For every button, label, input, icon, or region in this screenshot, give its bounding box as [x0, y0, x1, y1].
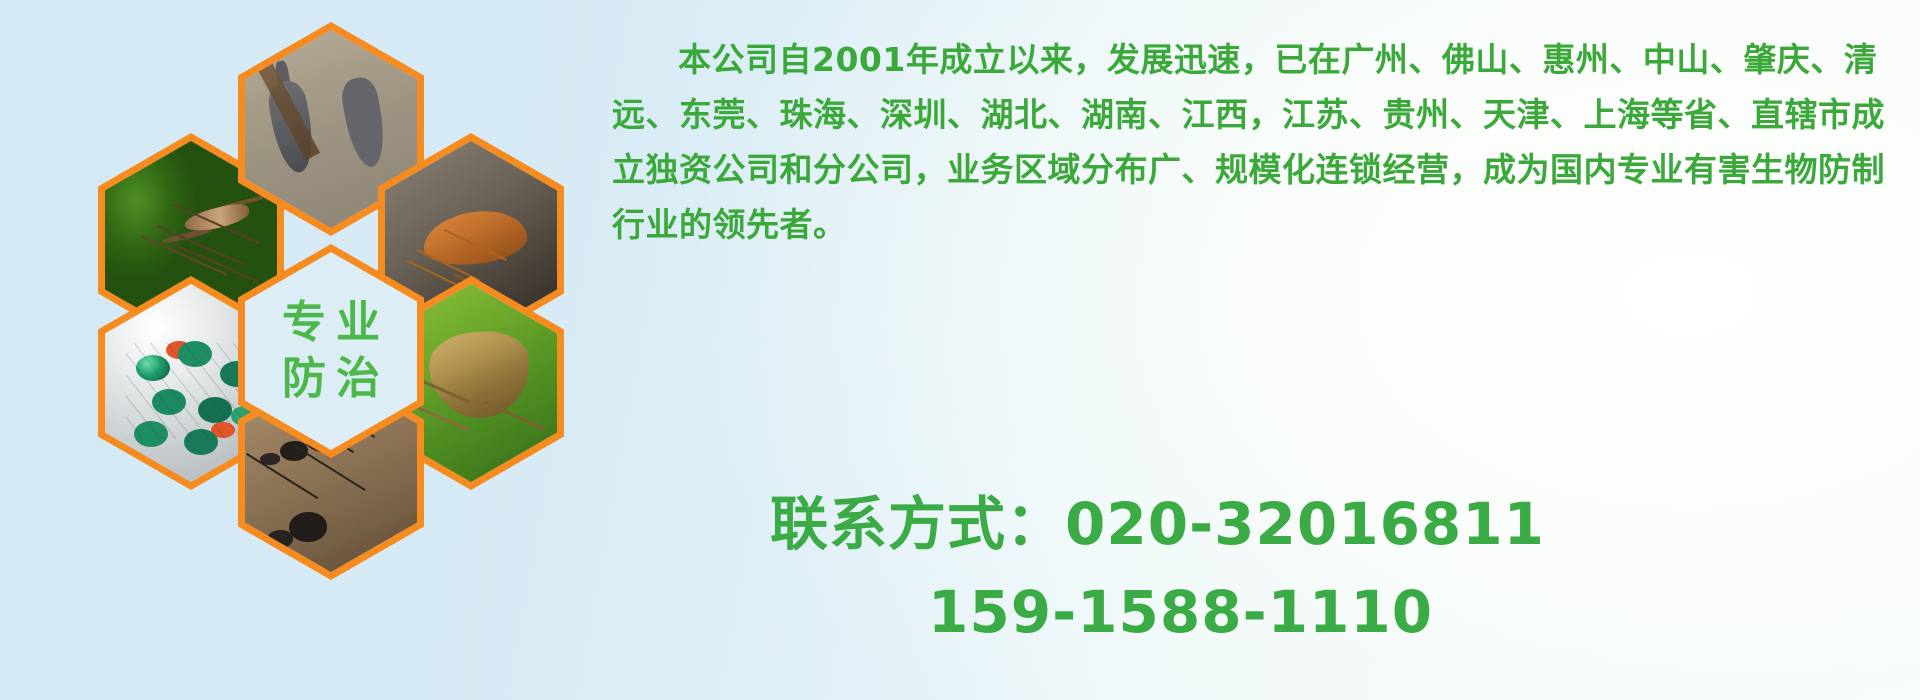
- contact-block: 联系方式：020-32016811 159-1588-1110: [770, 480, 1545, 656]
- center-label-line-1: 专业: [272, 295, 390, 351]
- hex-inner-center-label: 专业 防治: [245, 252, 417, 450]
- center-label-line-2: 防治: [272, 351, 390, 407]
- hexagon-image-cluster: 专业 防治: [88, 6, 588, 566]
- contact-line-mobile[interactable]: 159-1588-1110: [770, 568, 1545, 656]
- copy-column: 本公司自2001年成立以来，发展迅速，已在广州、佛山、惠州、中山、肇庆、清远、东…: [612, 32, 1902, 252]
- contact-line-landline[interactable]: 联系方式：020-32016811: [770, 480, 1545, 568]
- promotional-banner: 专业 防治 本公司自2001年成立以来，发展迅速，已在广州、佛山、惠州、中山、肇…: [0, 0, 1920, 700]
- company-intro-paragraph: 本公司自2001年成立以来，发展迅速，已在广州、佛山、惠州、中山、肇庆、清远、东…: [612, 32, 1902, 252]
